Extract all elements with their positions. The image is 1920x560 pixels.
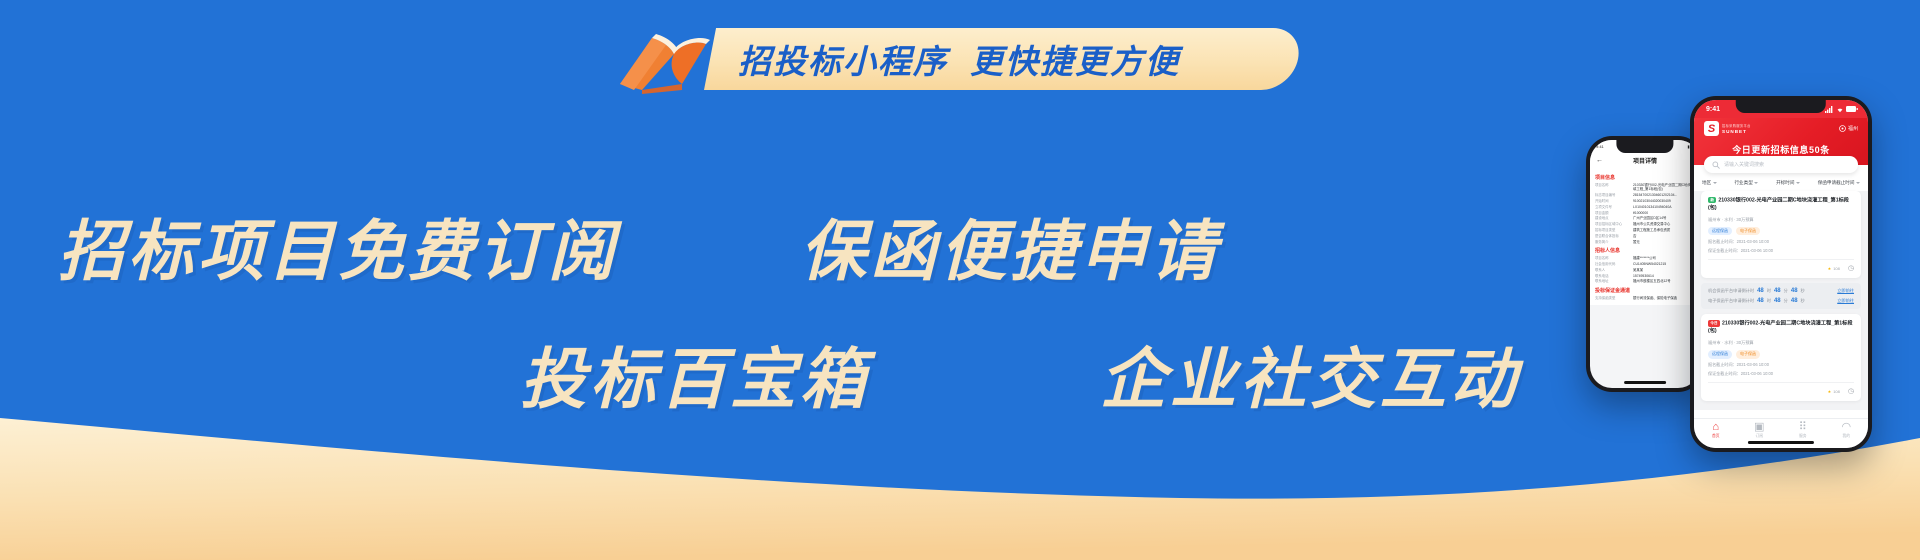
detail-row-key: 招标项目类型 [1595, 228, 1629, 232]
listing-title: 新210330银行002-光电产业园二期C地块浇灌工程_第1标段(包) [1708, 197, 1854, 213]
countdown-unit: 时 [1767, 288, 1771, 294]
city-selector[interactable]: 福州 [1839, 125, 1858, 132]
search-bar[interactable]: 请输入关键词搜索 [1704, 156, 1858, 173]
filter-label: 地区 [1702, 180, 1711, 186]
open-book-icon [612, 32, 730, 94]
user-icon: ◠ [1825, 422, 1869, 433]
left-section3-title: 投标保证金通道 [1595, 287, 1695, 294]
listing-deadline-deposit: 保证金截止时间：2021-03-06 10:00 [1708, 371, 1854, 377]
detail-row-value: ¥1000000 [1633, 211, 1695, 215]
filter-item[interactable]: 地区 [1702, 180, 1717, 186]
countdown-value: 48 [1791, 298, 1798, 304]
countdown-row: 电子保函平台申请倒计时48时48分48秒立即前往 [1708, 298, 1854, 304]
countdown-unit: 秒 [1801, 298, 1805, 304]
countdown-label: 电子保函平台申请倒计时 [1708, 298, 1754, 304]
daily-update-title: 今日更新招标信息50条 [1704, 143, 1858, 156]
tab-首页[interactable]: ⌂首页 [1694, 422, 1738, 440]
detail-row-key: 立项文件号 [1595, 205, 1629, 209]
headline-1: 招标项目免费订阅 [58, 198, 618, 294]
detail-row: 建设地点广州产业园区D区14号 [1595, 216, 1695, 220]
detail-row-value: CU1405NW54021215 [1633, 262, 1695, 266]
phone-mockup-left: 9:41 ▮▮▮ ← 项目详情 项目信息 项目名称210330银行002-光电产… [1586, 136, 1704, 392]
detail-row: 联系人吴某某 [1595, 268, 1695, 272]
listing-deadline-signup: 报名截止时间：2021-03-06 10:00 [1708, 362, 1854, 368]
listing-chip: 电子保函 [1736, 350, 1760, 359]
detail-row: 标志项目编号2815470021304601202104... [1595, 193, 1695, 197]
detail-row: 开始时间91002103044020030409 [1595, 199, 1695, 203]
star-icon: ★ [1828, 266, 1832, 271]
filter-label: 行业类型 [1734, 180, 1752, 186]
filter-item[interactable]: 开标时间 [1776, 180, 1800, 186]
listing-footer: ★108◷ [1708, 382, 1854, 395]
listing-chip: 远程保函 [1708, 350, 1732, 359]
listing-tag: 新 [1708, 197, 1716, 203]
favorite-count: 108 [1833, 389, 1840, 394]
search-placeholder: 请输入关键词搜索 [1724, 161, 1764, 168]
listing-footer: ★108◷ [1708, 259, 1854, 272]
detail-row-key: 开始时间 [1595, 199, 1629, 203]
left-section1-title: 项目信息 [1595, 174, 1695, 181]
left-section1-rows: 项目名称210330银行002-光电产业园二期C地块渣填工程_第1标段(包)标志… [1595, 183, 1695, 244]
countdown-unit: 秒 [1801, 288, 1805, 294]
detail-row-key: 是否联合体投标 [1595, 234, 1629, 238]
detail-row-key: 项目名称 [1595, 183, 1629, 192]
countdown-action-link[interactable]: 立即前往 [1837, 288, 1854, 294]
home-icon: ⌂ [1694, 422, 1738, 433]
clock-icon[interactable]: ◷ [1848, 387, 1854, 395]
listing-chips: 远程保函电子保函 [1708, 227, 1854, 236]
filter-item[interactable]: 行业类型 [1734, 180, 1758, 186]
tab-label: 首页 [1694, 434, 1738, 439]
detail-row-value: 福州市鼓楼区五四北12号 [1633, 279, 1695, 283]
detail-row: 项目名称福建*******公司 [1595, 256, 1695, 260]
countdown-value: 48 [1791, 288, 1798, 294]
countdown-value: 48 [1757, 288, 1764, 294]
phone-notch-right [1736, 100, 1826, 113]
right-status-icons [1825, 106, 1858, 113]
ribbon-text: 招投标小程序 更快捷更方便 [738, 28, 1298, 90]
detail-row: 联系电话15749530614 [1595, 274, 1695, 278]
detail-row: 服务简介暂无 [1595, 240, 1695, 244]
left-detail-body: 项目信息 项目名称210330银行002-光电产业园二期C地块渣填工程_第1标段… [1590, 168, 1700, 305]
grid-icon: ⠿ [1781, 422, 1825, 433]
detail-row: 项目招标区域中心福州市公共资源交易中心 [1595, 222, 1695, 226]
listing-chip: 电子保函 [1736, 227, 1760, 236]
listing-chip: 远程保函 [1708, 227, 1732, 236]
left-section3-rows: 支持保函类型银行间流保函、保险电子保函 [1595, 296, 1695, 300]
ribbon-text-part2: 更快捷更方便 [970, 35, 1180, 83]
detail-row: 招标项目类型建筑工程施工总承包资质 [1595, 228, 1695, 232]
chevron-down-icon [1754, 182, 1758, 184]
left-section2-title: 招标人信息 [1595, 247, 1695, 254]
countdown-value: 48 [1774, 288, 1781, 294]
filter-bar[interactable]: 地区行业类型开标时间保函申请截止时间 [1694, 173, 1868, 191]
detail-row-value: LX10401013410494040A [1633, 205, 1695, 209]
listing-tag: 今日 [1708, 320, 1720, 326]
detail-row: 是否联合体投标否 [1595, 234, 1695, 238]
phone-home-indicator-left [1624, 381, 1666, 384]
search-icon [1712, 161, 1720, 169]
logo-name: SUNBET [1722, 129, 1751, 134]
countdown-row: 机会保函平台申请倒计时48时48分48秒立即前往 [1708, 288, 1854, 294]
tab-label: 服务 [1781, 434, 1825, 439]
detail-row: 项目名称210330银行002-光电产业园二期C地块渣填工程_第1标段(包) [1595, 183, 1695, 192]
wifi-icon [1836, 106, 1844, 113]
countdown-label: 机会保函平台申请倒计时 [1708, 288, 1754, 294]
location-pin-icon [1839, 125, 1846, 132]
logo-subtitle: 招标采购服务平台 [1722, 123, 1751, 128]
filter-label: 开标时间 [1776, 180, 1794, 186]
detail-row-value: 91002103044020030409 [1633, 199, 1695, 203]
detail-row-value: 否 [1633, 234, 1695, 238]
detail-row-value: 广州产业园区D区14号 [1633, 216, 1695, 220]
listing-card[interactable]: 新210330银行002-光电产业园二期C地块浇灌工程_第1标段(包)福州市 ·… [1701, 191, 1861, 278]
filter-item[interactable]: 保函申请截止时间 [1818, 180, 1860, 186]
countdown-panel: 机会保函平台申请倒计时48时48分48秒立即前往电子保函平台申请倒计时48时48… [1701, 283, 1861, 309]
app-logo: S 招标采购服务平台 SUNBET [1704, 121, 1751, 136]
detail-row-key: 社会信用代码 [1595, 262, 1629, 266]
detail-row-key: 服务简介 [1595, 240, 1629, 244]
headline-2: 保函便捷申请 [800, 198, 1220, 294]
star-icon: ★ [1828, 389, 1832, 394]
signal-icon [1825, 106, 1834, 113]
listing-title: 今日210330银行002-光电产业园二期C地块浇灌工程_第1标段(包) [1708, 320, 1854, 336]
left-nav-title: 项目详情 [1633, 156, 1657, 165]
listing-deadline-deposit: 保证金截止时间：2021-03-06 10:00 [1708, 248, 1854, 254]
chevron-down-icon [1856, 182, 1860, 184]
document-icon: ▣ [1738, 422, 1782, 433]
countdown-unit: 时 [1767, 298, 1771, 304]
detail-row-value: 建筑工程施工总承包资质 [1633, 228, 1695, 232]
left-status-time: 9:41 [1596, 144, 1604, 149]
left-section2-rows: 项目名称福建*******公司社会信用代码CU1405NW54021215联系人… [1595, 256, 1695, 284]
countdown-action-link[interactable]: 立即前往 [1837, 298, 1854, 304]
headline-3: 投标百宝箱 [520, 326, 870, 422]
listing-card[interactable]: 今日210330银行002-光电产业园二期C地块浇灌工程_第1标段(包)福州市 … [1701, 314, 1861, 401]
detail-row-value: 福州市公共资源交易中心 [1633, 222, 1695, 226]
detail-row-value: 暂无 [1633, 240, 1695, 244]
left-nav-bar: ← 项目详情 [1590, 152, 1700, 168]
detail-row-key: 联系电话 [1595, 274, 1629, 278]
phone-mockup-right: 9:41 S [1690, 96, 1872, 452]
tab-我的[interactable]: ◠我的 [1825, 422, 1869, 440]
detail-row-value: 银行间流保函、保险电子保函 [1633, 296, 1695, 300]
clock-icon[interactable]: ◷ [1848, 264, 1854, 272]
headline-4: 企业社交互动 [1100, 326, 1520, 422]
tab-订阅[interactable]: ▣订阅 [1738, 422, 1782, 440]
ribbon-badge: 招投标小程序 更快捷更方便 [612, 28, 1292, 90]
favorite-count: 108 [1833, 266, 1840, 271]
countdown-unit: 分 [1784, 288, 1788, 294]
back-arrow-icon[interactable]: ← [1596, 157, 1603, 164]
logo-mark-icon: S [1704, 121, 1719, 136]
detail-row-key: 项目金额 [1595, 211, 1629, 215]
detail-row-key: 项目名称 [1595, 256, 1629, 260]
listing-meta: 福州市 · 水利 · 30万预算 [1708, 217, 1854, 223]
phone-notch-left [1616, 140, 1673, 153]
promo-banner: 招投标小程序 更快捷更方便 招标项目免费订阅 保函便捷申请 投标百宝箱 企业社交… [0, 0, 1920, 560]
countdown-unit: 分 [1784, 298, 1788, 304]
detail-row-value: 2815470021304601202104... [1633, 193, 1695, 197]
detail-row: 立项文件号LX10401013410494040A [1595, 205, 1695, 209]
detail-row-key: 联系地址 [1595, 279, 1629, 283]
detail-row: 社会信用代码CU1405NW54021215 [1595, 262, 1695, 266]
listing-deadline-signup: 报名截止时间：2021-03-06 10:00 [1708, 239, 1854, 245]
listing-list: 新210330银行002-光电产业园二期C地块浇灌工程_第1标段(包)福州市 ·… [1694, 191, 1868, 410]
ribbon-text-part1: 招投标小程序 [738, 35, 948, 83]
detail-row: 项目金额¥1000000 [1595, 211, 1695, 215]
tab-服务[interactable]: ⠿服务 [1781, 422, 1825, 440]
favorite-button[interactable]: ★108 [1828, 389, 1840, 394]
tab-label: 订阅 [1738, 434, 1782, 439]
detail-row-key: 标志项目编号 [1595, 193, 1629, 197]
countdown-value: 48 [1757, 298, 1764, 304]
detail-row-key: 项目招标区域中心 [1595, 222, 1629, 226]
detail-row-value: 吴某某 [1633, 268, 1695, 272]
chevron-down-icon [1796, 182, 1800, 184]
favorite-button[interactable]: ★108 [1828, 266, 1840, 271]
detail-row-key: 联系人 [1595, 268, 1629, 272]
chevron-down-icon [1713, 182, 1717, 184]
listing-chips: 远程保函电子保函 [1708, 350, 1854, 359]
detail-row: 联系地址福州市鼓楼区五四北12号 [1595, 279, 1695, 283]
detail-row-value: 210330银行002-光电产业园二期C地块渣填工程_第1标段(包) [1633, 183, 1695, 192]
listing-meta: 福州市 · 水利 · 30万预算 [1708, 340, 1854, 346]
phone-home-indicator-right [1748, 441, 1814, 444]
detail-row: 支持保函类型银行间流保函、保险电子保函 [1595, 296, 1695, 300]
detail-row-value: 福建*******公司 [1633, 256, 1695, 260]
right-status-time: 9:41 [1706, 106, 1720, 113]
filter-label: 保函申请截止时间 [1818, 180, 1855, 186]
tab-label: 我的 [1825, 434, 1869, 439]
detail-row-key: 支持保函类型 [1595, 296, 1629, 300]
detail-row-value: 15749530614 [1633, 274, 1695, 278]
city-label: 福州 [1848, 125, 1858, 132]
countdown-value: 48 [1774, 298, 1781, 304]
battery-icon [1846, 106, 1858, 112]
detail-row-key: 建设地点 [1595, 216, 1629, 220]
